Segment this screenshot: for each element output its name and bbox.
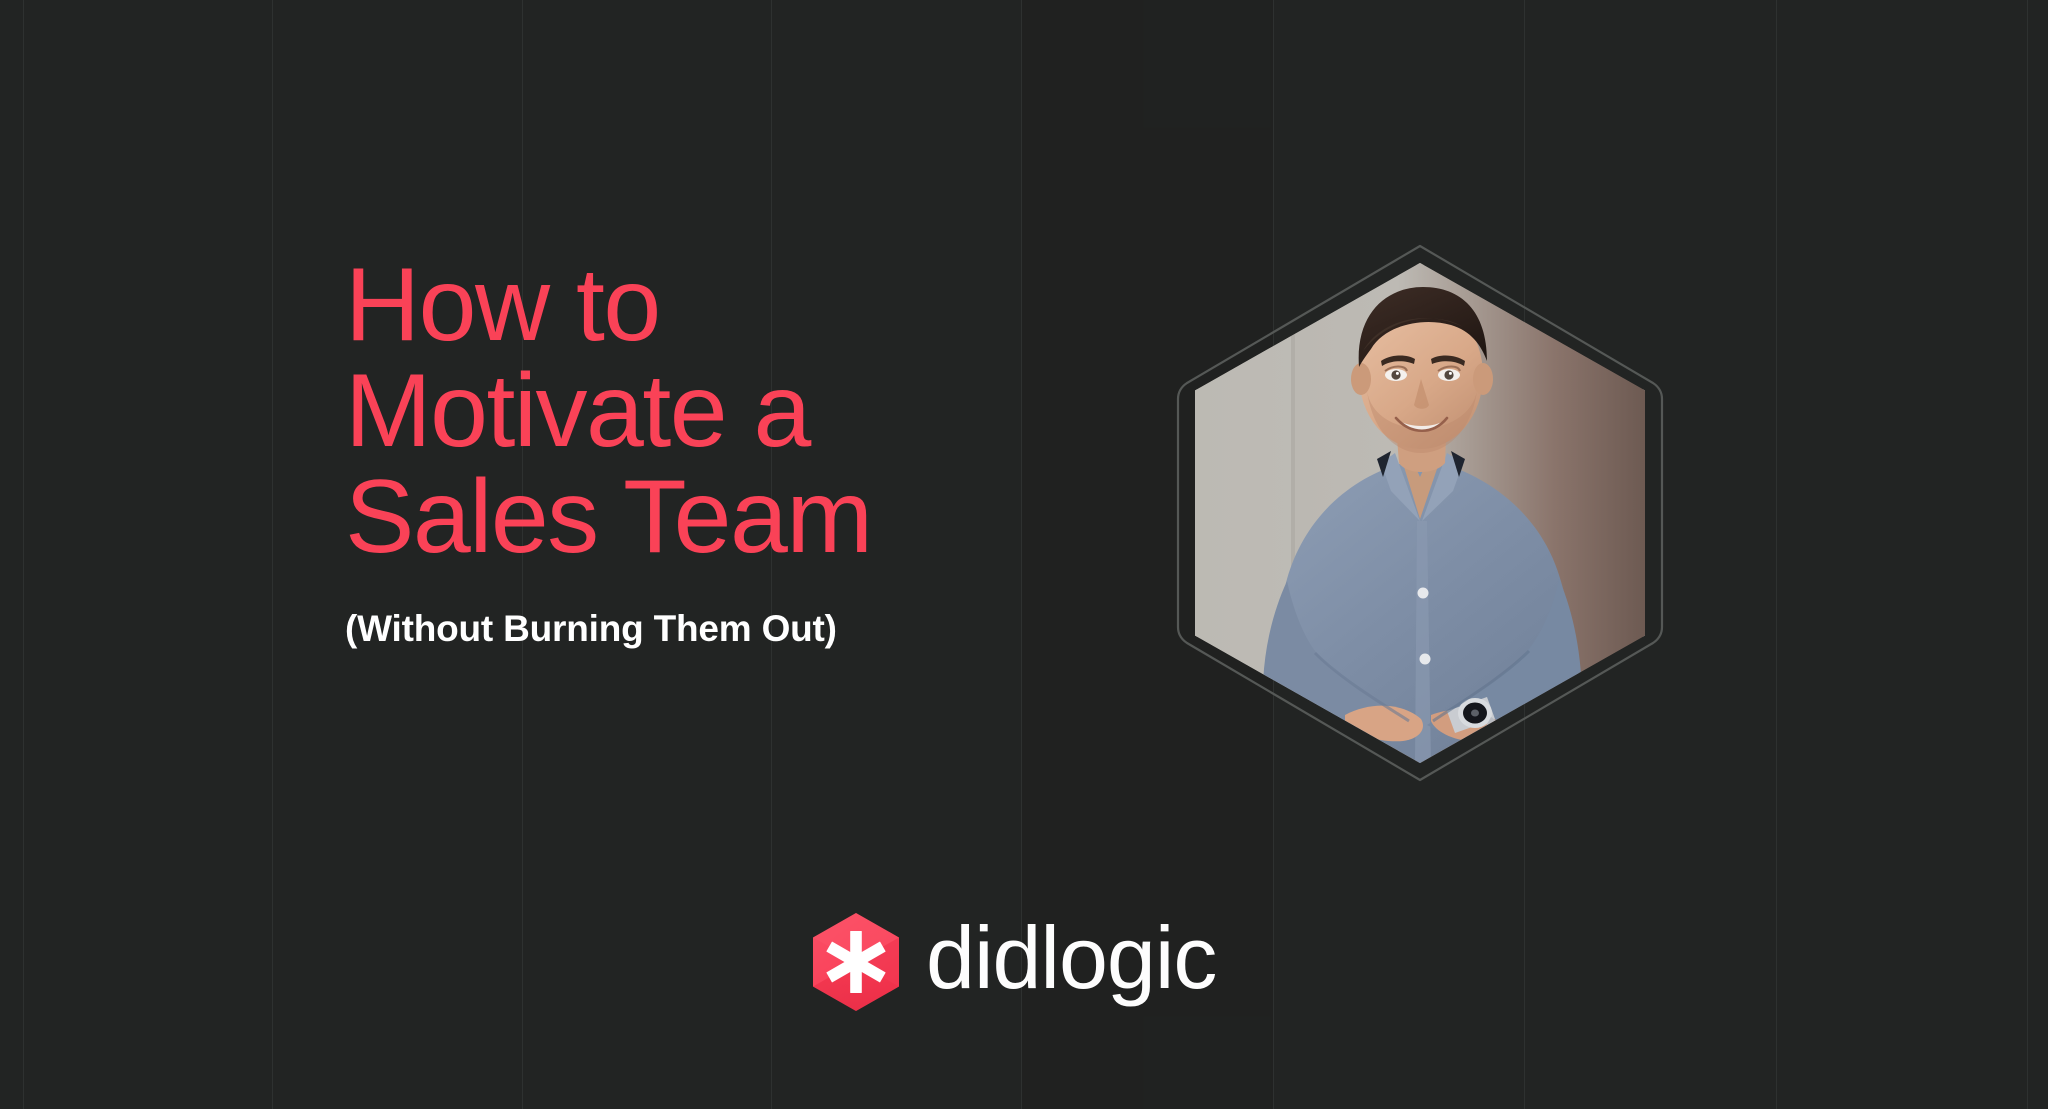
subtitle: (Without Burning Them Out)	[345, 570, 1105, 650]
gridline	[1776, 0, 1777, 1109]
brand-lockup: didlogic	[812, 912, 1216, 1012]
gridline	[272, 0, 273, 1109]
page-title: How to Motivate a Sales Team	[345, 252, 1105, 570]
title-line-1: How to	[345, 252, 1105, 358]
brand-wordmark: didlogic	[926, 914, 1216, 1002]
didlogic-hexagon-asterisk-logo-icon	[812, 912, 900, 1012]
cover-canvas: How to Motivate a Sales Team (Without Bu…	[0, 0, 2048, 1109]
title-line-2: Motivate a	[345, 358, 1105, 464]
portrait	[1175, 243, 1665, 783]
title-line-3: Sales Team	[345, 464, 1105, 570]
gridline	[2027, 0, 2028, 1109]
headline-block: How to Motivate a Sales Team (Without Bu…	[345, 252, 1105, 650]
gridline	[23, 0, 24, 1109]
